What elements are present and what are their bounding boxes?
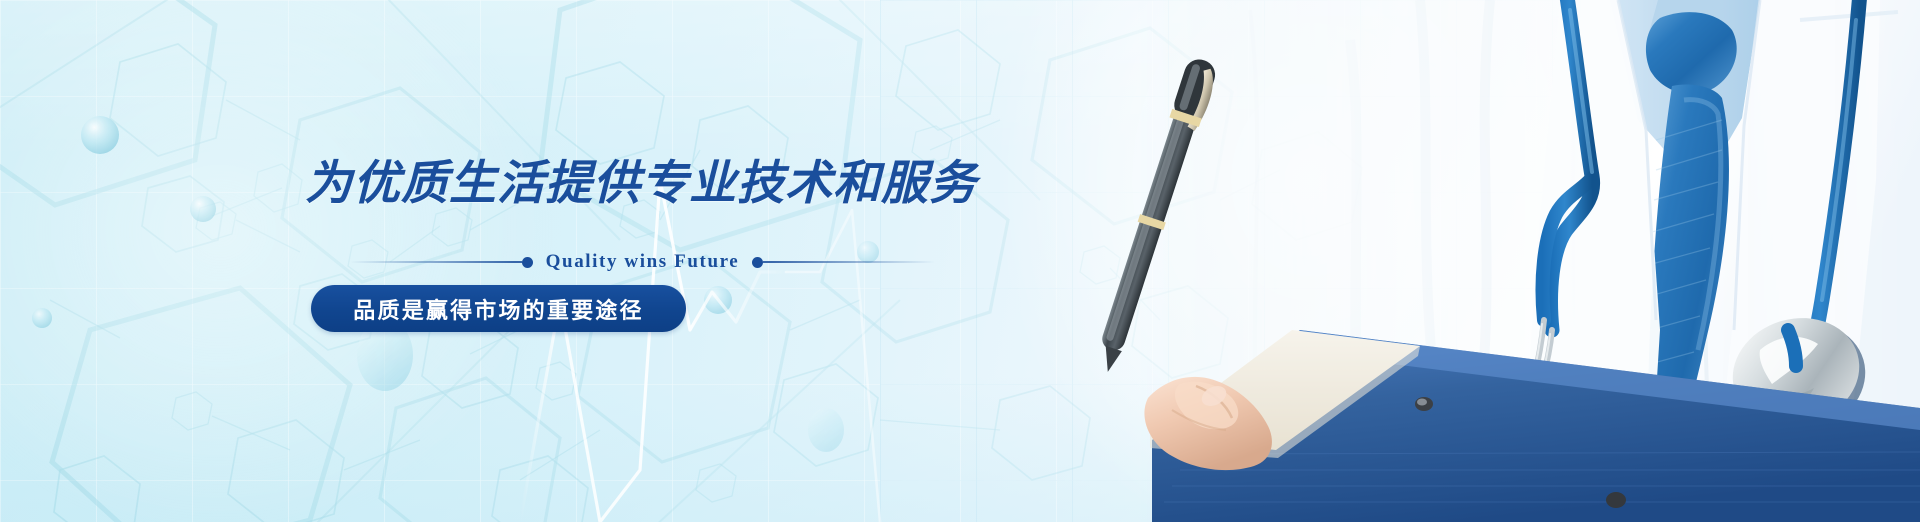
subtitle-english: Quality wins Future: [533, 251, 753, 273]
page-title: 为优质生活提供专业技术和服务: [305, 159, 977, 206]
medical-hero-banner: 为优质生活提供专业技术和服务 Quality wins Future 品质是赢得…: [0, 0, 1920, 522]
banner-content: 为优质生活提供专业技术和服务 Quality wins Future 品质是赢得…: [305, 0, 1025, 522]
slogan-button[interactable]: 品质是赢得市场的重要途径: [311, 285, 686, 332]
subtitle-row: Quality wins Future: [350, 251, 935, 273]
slogan-button-label: 品质是赢得市场的重要途径: [353, 293, 643, 325]
right-accent-rule: [763, 261, 935, 263]
left-accent-rule: [350, 261, 522, 263]
left-accent-dot: [522, 257, 533, 268]
right-accent-dot: [752, 257, 763, 268]
